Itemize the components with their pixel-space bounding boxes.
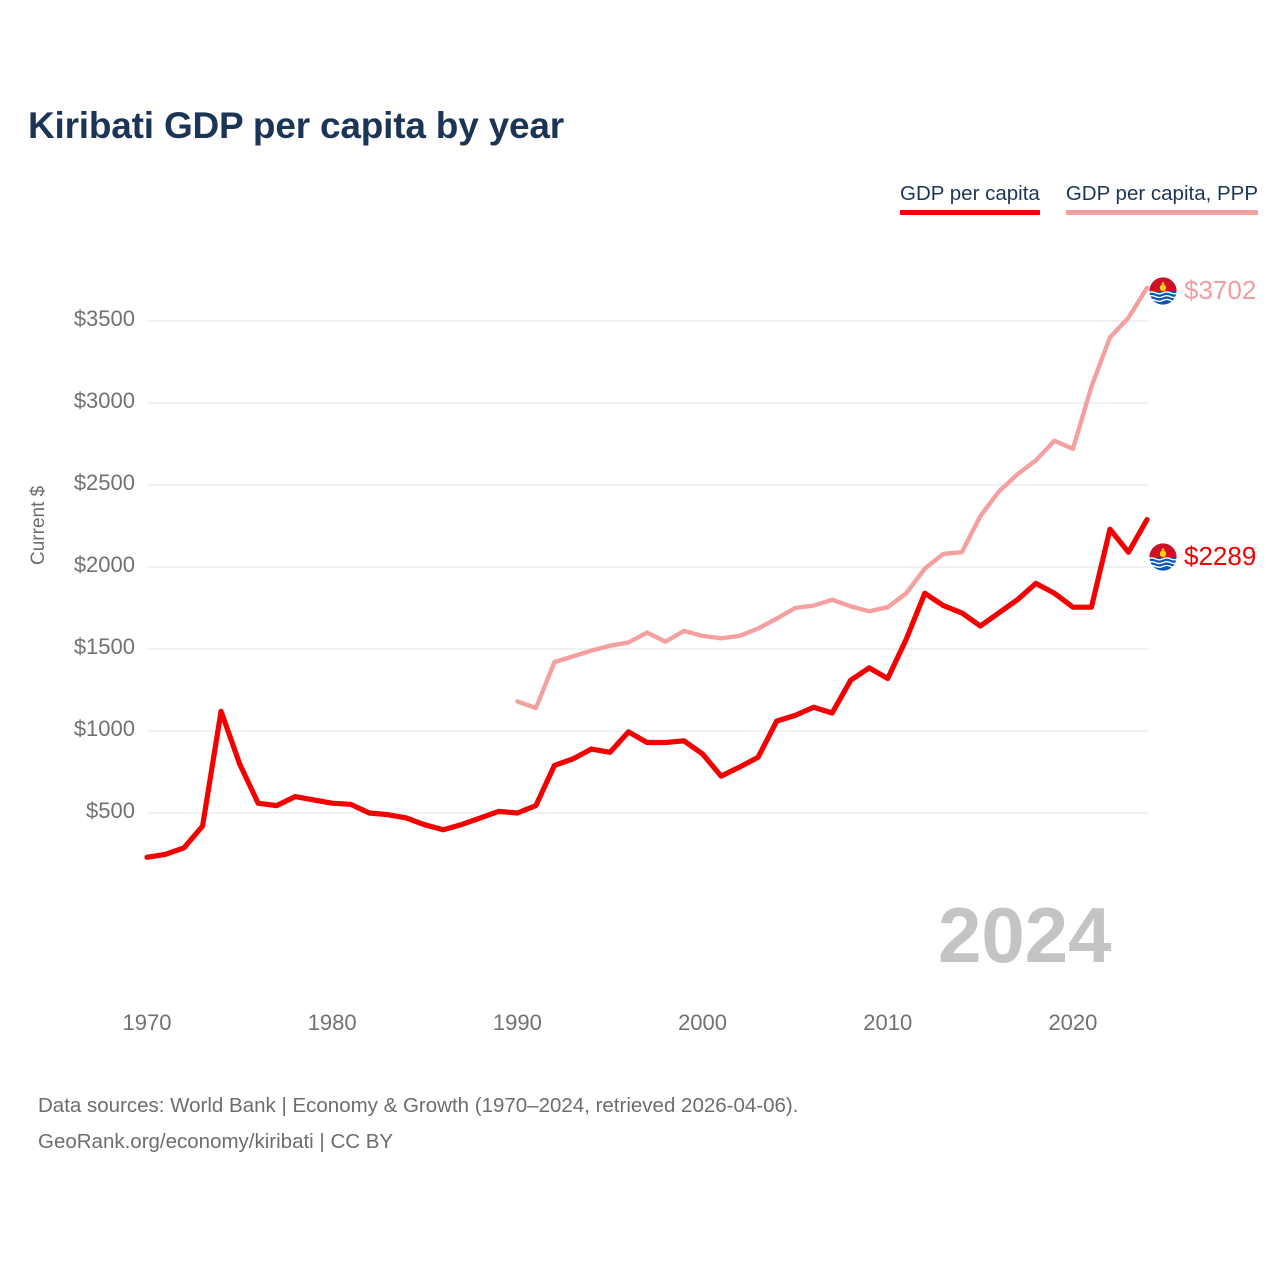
end-label-ppp: $3702 (1148, 275, 1256, 306)
series-line-gdp (147, 520, 1147, 858)
end-label-gdp: $2289 (1148, 541, 1256, 572)
kiribati-flag-icon (1148, 542, 1178, 572)
x-tick-label: 1980 (282, 1010, 382, 1036)
y-tick-label: $3000 (74, 388, 135, 414)
y-tick-label: $2500 (74, 470, 135, 496)
footer-attribution: Data sources: World Bank | Economy & Gro… (38, 1088, 798, 1160)
chart-page: Kiribati GDP per capita by year GDP per … (0, 0, 1280, 1280)
x-tick-label: 1990 (467, 1010, 567, 1036)
footer-line-sources: Data sources: World Bank | Economy & Gro… (38, 1088, 798, 1124)
x-tick-label: 2000 (653, 1010, 753, 1036)
y-tick-label: $500 (86, 798, 135, 824)
y-tick-label: $2000 (74, 552, 135, 578)
y-tick-label: $1000 (74, 716, 135, 742)
x-tick-label: 2020 (1023, 1010, 1123, 1036)
y-tick-label: $1500 (74, 634, 135, 660)
x-tick-label: 2010 (838, 1010, 938, 1036)
end-value-gdp: $2289 (1184, 541, 1256, 572)
footer-line-link[interactable]: GeoRank.org/economy/kiribati | CC BY (38, 1124, 798, 1160)
series-line-ppp (517, 288, 1147, 708)
end-value-ppp: $3702 (1184, 275, 1256, 306)
kiribati-flag-icon (1148, 276, 1178, 306)
x-tick-label: 1970 (97, 1010, 197, 1036)
y-tick-label: $3500 (74, 306, 135, 332)
